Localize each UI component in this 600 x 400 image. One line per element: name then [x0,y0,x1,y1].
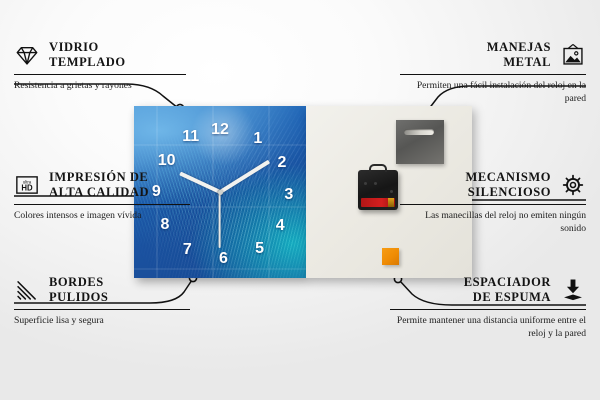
feature-description: Superficie lisa y segura [14,315,190,328]
clock-number-4: 4 [276,218,285,234]
feature-description: Resistencia a grietas y rayones [14,80,186,93]
clock-number-10: 10 [158,153,176,169]
polished-edge-icon [14,277,40,303]
feature-espaciador-espuma: ESPACIADOR DE ESPUMA Permite mantener un… [390,275,586,341]
feature-divider [14,204,190,205]
diamond-icon [14,42,40,68]
feature-description: Colores intensos e imagen vívida [14,210,190,223]
feature-vidrio-templado: VIDRIO TEMPLADO Resistencia a grietas y … [14,40,186,93]
spacer-arrow-icon [560,277,586,303]
feature-title-line1: ESPACIADOR [464,275,551,289]
feature-title-line2: PULIDOS [49,290,108,304]
clock-number-11: 11 [182,129,199,145]
feature-title-line2: SILENCIOSO [468,185,551,199]
metal-hanger-plate [396,120,444,164]
clock-center-pin [218,190,223,195]
infographic-stage: 12 1 2 3 4 5 6 7 8 9 10 11 [0,0,600,400]
feature-divider [390,309,586,310]
feature-description: Las manecillas del reloj no emiten ningú… [400,210,586,236]
clock-number-5: 5 [255,241,264,257]
feature-divider [14,74,186,75]
feature-mecanismo-silencioso: MECANISMO SILENCIOSO Las manecillas del … [400,170,586,236]
feature-title-line1: BORDES [49,275,104,289]
clock-number-2: 2 [277,155,286,171]
clock-number-6: 6 [219,251,228,267]
clock-mechanism [358,170,398,210]
feature-description: Permiten una fácil instalación del reloj… [400,80,586,106]
feature-title-line2: DE ESPUMA [473,290,551,304]
feature-bordes-pulidos: BORDES PULIDOS Superficie lisa y segura [14,275,190,328]
feature-divider [400,204,586,205]
feature-title-line1: VIDRIO [49,40,99,54]
svg-text:HD: HD [21,183,33,192]
foam-spacer [382,248,399,265]
mechanism-chip [388,198,394,207]
clock-number-7: 7 [183,242,192,258]
clock-number-3: 3 [284,187,293,203]
feature-title-line1: MANEJAS [487,40,551,54]
feature-title-line2: TEMPLADO [49,55,126,69]
feature-title-line2: METAL [503,55,551,69]
clock-second-hand [219,192,221,248]
feature-title-line1: MECANISMO [465,170,551,184]
mechanism-handle [369,164,387,172]
clock-number-12: 12 [211,122,229,138]
feature-impresion-alta-calidad: ultra HD IMPRESIÓN DE ALTA CALIDAD Color… [14,170,190,223]
gear-icon [560,172,586,198]
clock-number-1: 1 [253,131,262,147]
feature-description: Permite mantener una distancia uniforme … [390,315,586,341]
feature-divider [400,74,586,75]
feature-manejas-metal: MANEJAS METAL Permiten una fácil instala… [400,40,586,106]
wall-frame-icon [560,42,586,68]
feature-divider [14,309,190,310]
feature-title-line1: IMPRESIÓN DE [49,170,148,184]
ultra-hd-icon: ultra HD [14,172,40,198]
hanger-slot [404,129,434,135]
feature-title-line2: ALTA CALIDAD [49,185,149,199]
